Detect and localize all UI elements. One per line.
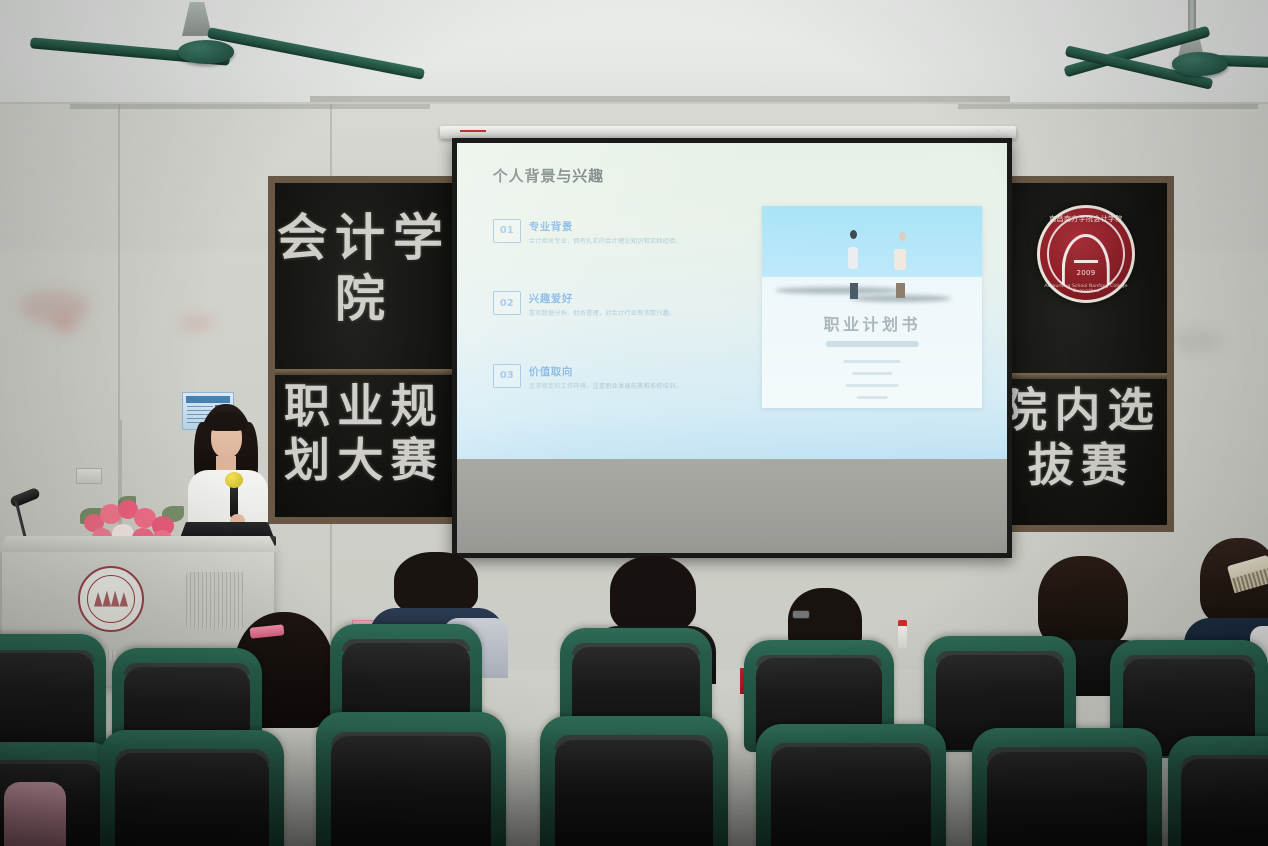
blackboard-left-bottom-text: 职业规划大赛 [275,379,453,488]
presentation-slide: 个人背景与兴趣 01 专业背景 会计相关专业，拥有扎实的会计理论知识和实践经验。… [457,143,1007,459]
podium-emblem [78,566,144,632]
projection-screen: 个人背景与兴趣 01 专业背景 会计相关专业，拥有扎实的会计理论知识和实践经验。… [452,138,1012,558]
wall-trim [70,104,430,109]
seat [100,730,284,846]
power-socket-icon [76,468,102,484]
seat [540,716,728,846]
blackboard-left: 会计学院 职业规划大赛 [268,176,460,524]
slide-item-body: 喜欢数据分析、财务管理，对会计行业有浓厚兴趣。 [529,309,689,320]
water-bottle [898,626,907,648]
blackboard-right-bottom-text: 院内选拔赛 [995,383,1167,493]
housing-brand-label: · [998,128,1000,134]
lecture-hall-photo: 会计学院 职业规划大赛 南昌南方学院会计学院 2009 Accounting S… [0,0,1268,846]
slide-item-number: 03 [493,364,521,388]
slide-item-heading: 价值取向 [529,364,689,379]
college-emblem: 南昌南方学院会计学院 2009 Accounting School Nanfan… [1037,205,1135,303]
wall-stain [52,316,78,332]
slide-item-01: 01 专业背景 会计相关专业，拥有扎实的会计理论知识和实践经验。 [493,219,689,248]
figure-head [899,232,906,241]
wall-trim [958,104,1258,109]
slide-item-heading: 专业背景 [529,219,689,234]
figure-torso [894,249,906,270]
wall-stain [1172,330,1222,352]
slide-item-heading: 兴趣爱好 [529,291,689,306]
slide-item-body: 会计相关专业，拥有扎实的会计理论知识和实践经验。 [529,237,689,248]
wall-stain [180,316,214,330]
glasses-icon [792,610,810,619]
blackboard-left-top-text: 会计学院 [275,207,453,329]
seat [0,634,106,754]
figure-legs [896,283,905,298]
bottle-cap [898,620,907,626]
emblem-year: 2009 [1040,269,1132,277]
slide-item-number: 02 [493,291,521,315]
seat [972,728,1162,846]
ceiling-fan-icon [1040,0,1268,90]
wall-ledge [310,96,1010,102]
blackboard-right: 南昌南方学院会计学院 2009 Accounting School Nanfan… [988,176,1174,532]
audience-person [0,782,74,846]
microphone-icon [225,472,243,488]
figure-torso [848,247,858,269]
seat [1168,736,1268,846]
emblem-cn-text: 南昌南方学院会计学院 [1040,214,1132,224]
slide-letterbox [457,459,1007,553]
figure-legs [850,283,858,299]
slide-photo-caption: 职业计划书 [762,311,982,335]
emblem-en-text: Accounting School Nanfang College Guangz… [1040,284,1132,294]
slide-item-02: 02 兴趣爱好 喜欢数据分析、财务管理，对会计行业有浓厚兴趣。 [493,291,689,320]
ceiling-fan-icon [120,0,420,90]
seat [316,712,506,846]
seat [756,724,946,846]
slide-item-03: 03 价值取向 追求稳定的工作环境，注重职业发展前景和系统培训。 [493,364,689,393]
slide-item-body: 追求稳定的工作环境，注重职业发展前景和系统培训。 [529,382,689,393]
slide-item-number: 01 [493,219,521,243]
slide-title: 个人背景与兴趣 [493,165,604,186]
slide-photo: 职业计划书 [762,206,982,408]
